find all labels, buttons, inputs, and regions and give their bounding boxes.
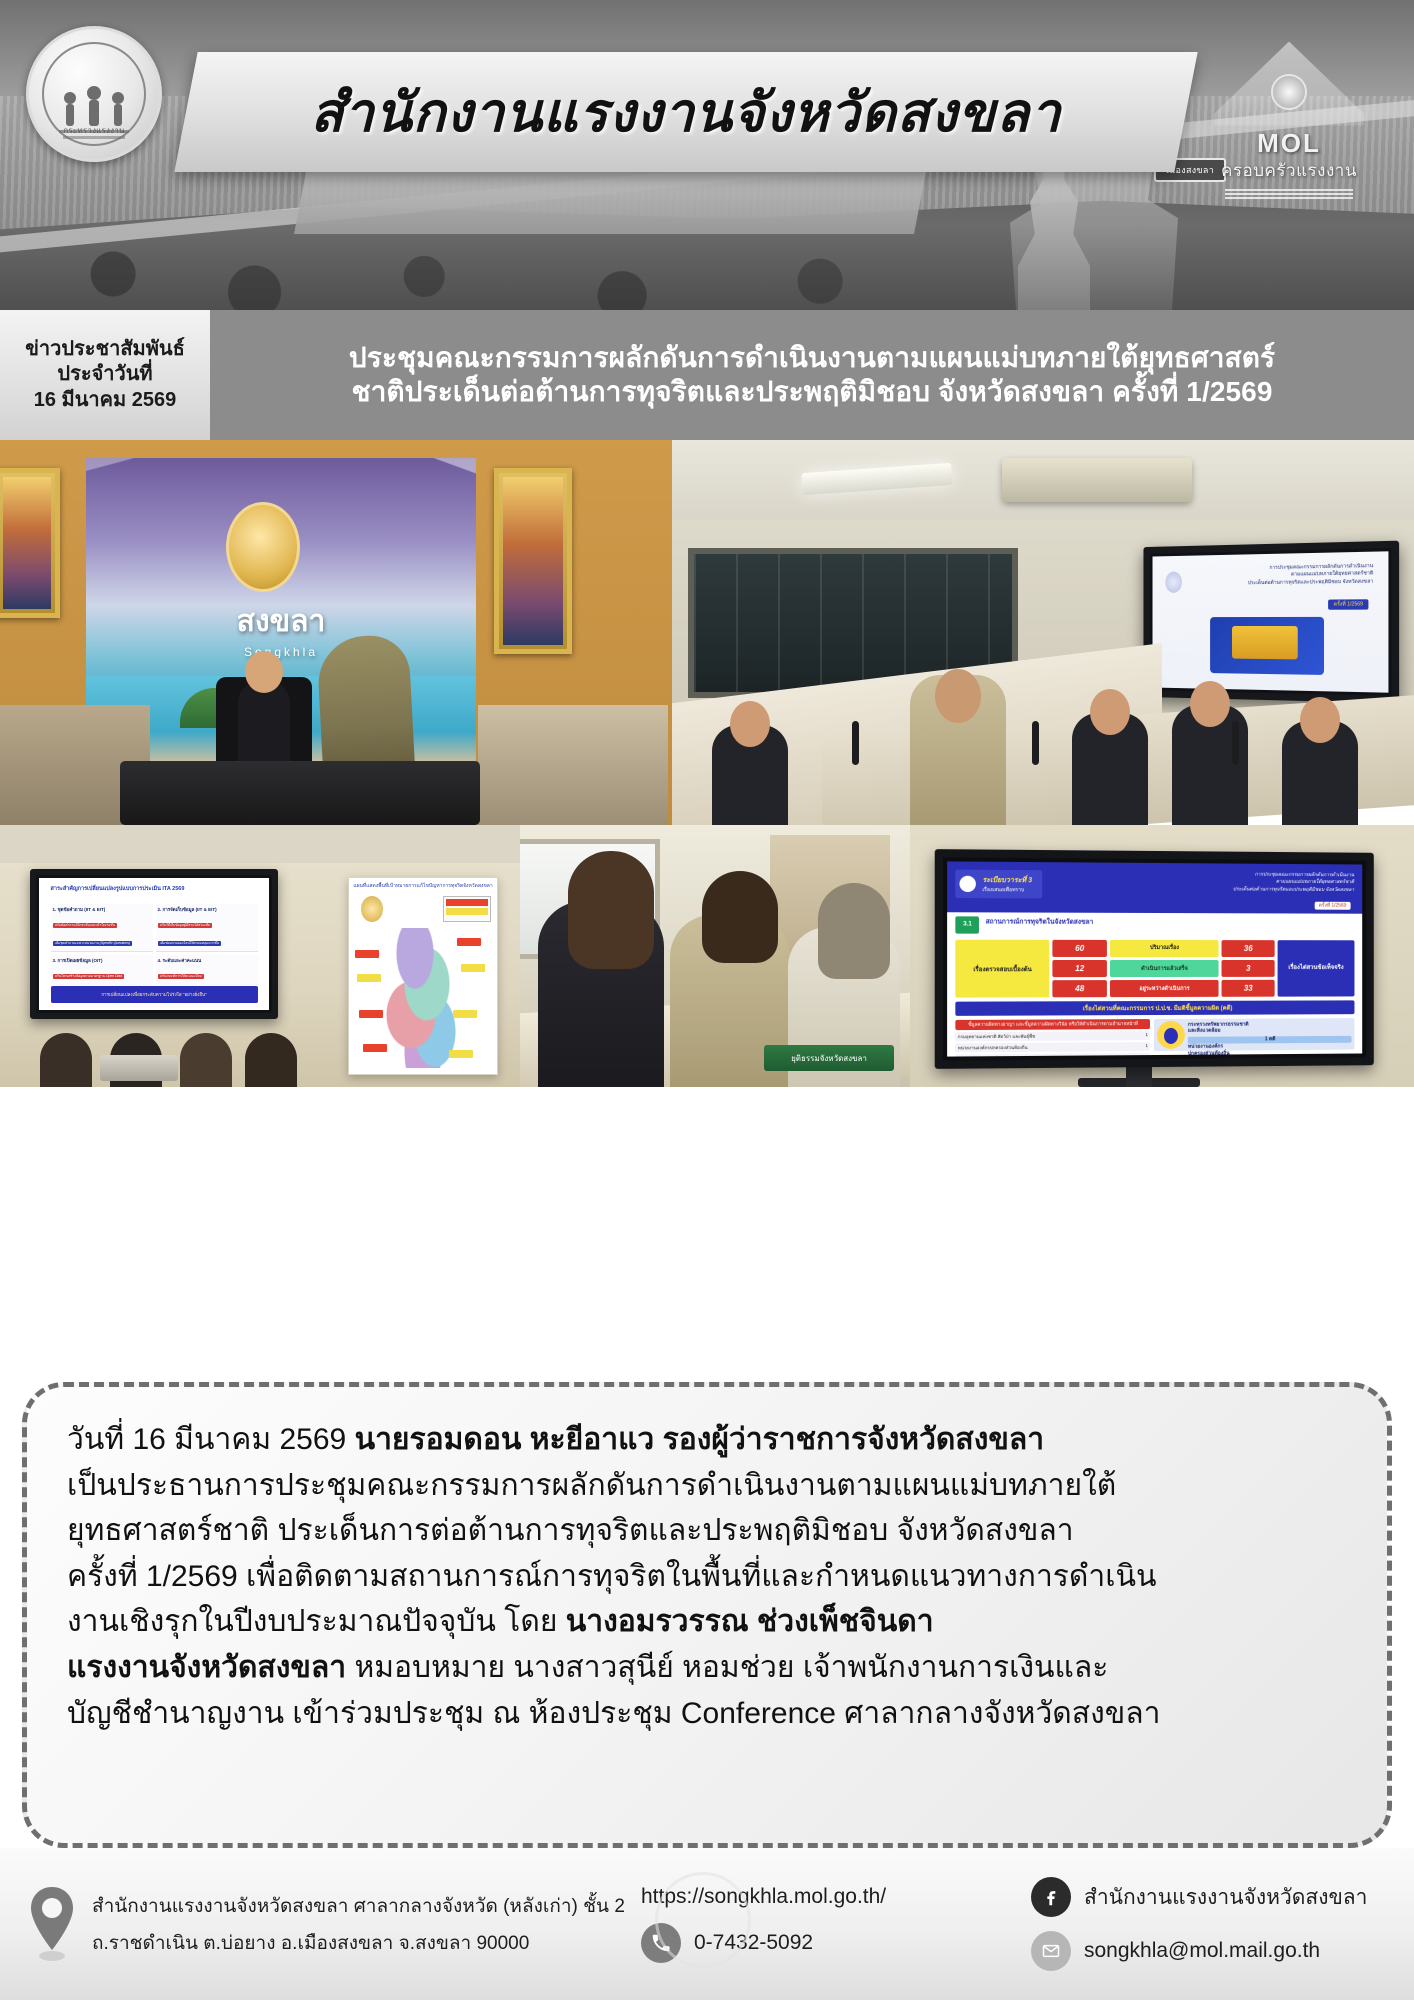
p5-right-values: 36 3 33 — [1222, 940, 1275, 997]
p3-slide: สาระสำคัญการเปลี่ยนแปลงรูปแบบการประเมิน … — [39, 878, 269, 1010]
p5-bottom-row-value: 1 — [1146, 1032, 1148, 1039]
p5-right-value-row-3: 33 — [1222, 980, 1275, 997]
p3-item-title: 4. ระดับและค่าคะแนน — [158, 957, 256, 964]
photo-statistics-slide: ระเบียบวาระที่ 3 เรื่องเสนอเพื่อทราบ การ… — [910, 825, 1414, 1087]
date-block: ข่าวประชาสัมพันธ์ ประจำวันที่ 16 มีนาคม … — [0, 310, 210, 440]
body-line-4: ครั้งที่ 1/2569 เพื่อติดตามสถานการณ์การท… — [67, 1554, 1353, 1600]
p5-bottom-row: หน่วยงานองค์กรปกครองส่วนท้องถิ่น 1 — [956, 1042, 1150, 1052]
p3-slide-title: สาระสำคัญการเปลี่ยนแปลงรูปแบบการประเมิน … — [51, 885, 185, 893]
p3-slide-item: 1. ชุดข้อคำถาม (IIT & EIT) ปรับข้อคำถามใ… — [51, 904, 153, 952]
photo-ita-screen-and-map: สาระสำคัญการเปลี่ยนแปลงรูปแบบการประเมิน … — [0, 825, 520, 1087]
headline-line-2: ชาติประเด็นต่อต้านการทุจริตและประพฤติมิช… — [351, 375, 1272, 409]
p5-bottom-row-label: องค์กรระดับจังหวัดอื่น — [958, 1055, 1001, 1057]
body-text: บัญชีชำนาญงาน เข้าร่วมประชุม ณ ห้องประชุ… — [67, 1697, 1160, 1730]
headline-line-1: ประชุมคณะกรรมการผลักดันการดำเนินงานตามแผ… — [349, 341, 1275, 375]
p1-table — [120, 761, 480, 825]
body-line-3: ยุทธศาสตร์ชาติ ประเด็นการต่อต้านการทุจริ… — [67, 1508, 1353, 1554]
p5-bottom-right-line-2: และสิ่งแวดล้อม — [1188, 1027, 1351, 1035]
p3-item-title: 1. ชุดข้อคำถาม (IIT & EIT) — [53, 906, 151, 913]
p1-backdrop-title: สงขลา Songkhla — [86, 598, 476, 659]
p3-item-chip-red: ปรับเกณฑ์การให้คะแนนใหม่ — [158, 974, 204, 979]
date-prefix-label: ประจำวันที่ — [57, 362, 152, 387]
p5-agenda-icon — [960, 876, 976, 892]
p2-microphone — [852, 721, 859, 765]
p1-portrait-frame-right — [494, 468, 572, 654]
footer-email-text[interactable]: songkhla@mol.mail.go.th — [1084, 1939, 1320, 1963]
p5-right-value-row-1: 36 — [1222, 940, 1275, 957]
p5-header-badge: ครั้งที่ 1/2569 — [1315, 902, 1350, 910]
p5-header-3: ประเด็นต่อต้านการทุจริตและประพฤติมิชอบ จ… — [1125, 885, 1354, 894]
p3-item-chip-blue: เพิ่มชุดคำถามเฉพาะหน่วยงาน (Specific Que… — [53, 941, 133, 946]
body-text: ยุทธศาสตร์ชาติ ประเด็นการต่อต้านการทุจริ… — [67, 1514, 1074, 1547]
p3-legend-swatch-red — [446, 899, 488, 906]
photo-grid: สงขลา Songkhla — [0, 440, 1414, 1087]
p5-bottom-red-note: ชี้มูลความผิดทางอาญา และชี้มูลความผิดทาง… — [956, 1019, 1150, 1030]
p3-item-chip-red: ปรับโครงสร้างข้อมูลตามมาตรฐาน Open Data — [53, 974, 125, 979]
p2-air-conditioner — [1002, 458, 1192, 502]
footer-social-block: สำนักงานแรงงานจังหวัดสงขลา songkhla@mol.… — [1031, 1877, 1388, 1971]
p3-item-title: 3. การเปิดเผยข้อมูล (OIT) — [53, 957, 151, 964]
p3-slide-grid: 1. ชุดข้อคำถาม (IIT & EIT) ปรับข้อคำถามใ… — [51, 904, 258, 981]
photo-chairman-head-table: สงขลา Songkhla — [0, 440, 672, 825]
p3-projector — [100, 1055, 178, 1081]
p5-middle-row-3: อยู่ระหว่างดำเนินการ — [1110, 980, 1219, 997]
body-line-5: งานเชิงรุกในปีงบประมาณปัจจุบัน โดย นางอม… — [67, 1599, 1353, 1645]
p3-audience-head — [245, 1033, 297, 1087]
p2-uniformed-officer — [910, 675, 1006, 825]
p2-presentation-screen: การประชุมคณะกรรมการผลักดันการดำเนินงาน ต… — [1143, 541, 1399, 704]
footer-address-lines: สำนักงานแรงงานจังหวัดสงขลา ศาลากลางจังหว… — [92, 1891, 625, 1958]
p5-agenda-subtitle: เรื่องเสนอเพื่อทราบ — [982, 886, 1032, 894]
footer-address-block: สำนักงานแรงงานจังหวัดสงขลา ศาลากลางจังหว… — [26, 1885, 641, 1963]
p2-slide-badge: ครั้งที่ 1/2569 — [1328, 600, 1368, 610]
p3-poster-seal-icon — [361, 896, 383, 922]
p5-middle-row-2: ดำเนินการแล้วเสร็จ — [1110, 960, 1219, 977]
ministry-seal-icon: กระทรวงแรงงาน — [26, 26, 162, 162]
p1-backdrop-title-text: สงขลา — [237, 605, 326, 638]
p5-bottom-right-line-4: ปกครองส่วนท้องถิ่น — [1188, 1049, 1351, 1056]
p3-ceiling — [0, 825, 520, 863]
p5-avatar-icon — [1157, 1021, 1185, 1049]
p5-agenda-badge: ระเบียบวาระที่ 3 เรื่องเสนอเพื่อทราบ — [956, 869, 1043, 899]
photo-meeting-room-right: การประชุมคณะกรรมการผลักดันการดำเนินงาน ต… — [672, 440, 1414, 825]
body-line-6: แรงงานจังหวัดสงขลา หมอบหมาย นางสาวสุนีย์… — [67, 1645, 1353, 1691]
p2-attendee-a — [712, 725, 788, 825]
photo-row-top: สงขลา Songkhla — [0, 440, 1414, 825]
p4-headscarf — [818, 883, 890, 979]
p3-item-chip-red: ปรับวิธีเก็บข้อมูลผู้มีส่วนได้ส่วนเสีย — [158, 923, 212, 928]
mol-arch-icon — [1214, 42, 1364, 126]
date-value: 16 มีนาคม 2569 — [34, 388, 177, 413]
footer-watermark-seal — [655, 1872, 751, 1968]
p3-poster-legend — [443, 896, 491, 922]
p1-backdrop-subtitle-text: Songkhla — [86, 645, 476, 659]
body-text: เป็นประธานการประชุมคณะกรรมการผลักดันการด… — [67, 1469, 1116, 1502]
p3-map-tag — [355, 950, 379, 958]
p2-slide: การประชุมคณะกรรมการผลักดันการดำเนินงาน ต… — [1153, 551, 1389, 692]
footer-address-line-2: ถ.ราชดำเนิน ต.บ่อยาง อ.เมืองสงขลา จ.สงขล… — [92, 1928, 625, 1958]
p5-section-number: 3.1 — [956, 916, 980, 934]
p5-bottom-row: องค์กรระดับจังหวัดอื่น — [956, 1053, 1150, 1057]
organization-title: สำนักงานแรงงานจังหวัดสงขลา — [186, 52, 1186, 172]
p3-presentation-screen: สาระสำคัญการเปลี่ยนแปลงรูปแบบการประเมิน … — [30, 869, 278, 1019]
body-emphasis: นางอมรวรรณ ช่วงเพ็ชจินดา — [566, 1605, 934, 1638]
location-pin-icon — [26, 1885, 78, 1963]
p3-legend-swatch-yellow — [446, 908, 488, 915]
body-line-7: บัญชีชำนาญงาน เข้าร่วมประชุม ณ ห้องประชุ… — [67, 1691, 1353, 1737]
body-emphasis: แรงงานจังหวัดสงขลา — [67, 1651, 346, 1684]
body-text: งานเชิงรุกในปีงบประมาณปัจจุบัน โดย — [67, 1605, 566, 1638]
p3-slide-item: 2. การจัดเก็บข้อมูล (IIT & EIT) ปรับวิธี… — [156, 904, 258, 952]
p1-attendees-right — [478, 705, 668, 825]
facebook-icon[interactable] — [1031, 1877, 1071, 1917]
p5-middle-row-1: ปริมาณเรื่อง — [1110, 940, 1219, 957]
p5-section-title: สถานการณ์การทุจริตในจังหวัดสงขลา — [986, 916, 1094, 926]
p5-right-label: เรื่องไต่สวนข้อเท็จจริง — [1278, 940, 1354, 997]
photo-row-bottom: สาระสำคัญการเปลี่ยนแปลงรูปแบบการประเมิน … — [0, 825, 1414, 1087]
headline-block: ประชุมคณะกรรมการผลักดันการดำเนินงานตามแผ… — [210, 310, 1414, 440]
p3-map-tag — [457, 938, 481, 946]
press-release-label: ข่าวประชาสัมพันธ์ — [25, 337, 185, 362]
p3-map-tag — [461, 964, 485, 972]
body-text-card: วันที่ 16 มีนาคม 2569 นายรอมดอน หะยีอาแว… — [22, 1382, 1392, 1848]
p5-bottom-row-label: กรมอุทยานแห่งชาติ สัตว์ป่า และพันธุ์พืช — [958, 1032, 1035, 1040]
p5-bottom-section: ชี้มูลความผิดทางอาญา และชี้มูลความผิดทาง… — [956, 1018, 1354, 1053]
p5-section-bar: เรื่องไต่สวนที่คณะกรรมการ ป.ป.ช. มีมติชี… — [956, 1001, 1354, 1016]
body-text: ครั้งที่ 1/2569 เพื่อติดตามสถานการณ์การท… — [67, 1560, 1157, 1593]
body-line-1: วันที่ 16 มีนาคม 2569 นายรอมดอน หะยีอาแว… — [67, 1417, 1353, 1463]
footer-facebook-item[interactable]: สำนักงานแรงงานจังหวัดสงขลา — [1031, 1877, 1388, 1917]
mol-name-text: MOL — [1257, 128, 1321, 159]
p5-bottom-left: ชี้มูลความผิดทางอาญา และชี้มูลความผิดทาง… — [956, 1019, 1150, 1053]
p5-presentation-screen: ระเบียบวาระที่ 3 เรื่องเสนอเพื่อทราบ การ… — [935, 849, 1374, 1069]
p3-poster-title: แผนที่แสดงพื้นที่เป้าหมายการแก้ไขปัญหากา… — [349, 882, 497, 890]
seal-inner-ring: กระทรวงแรงงาน — [42, 42, 146, 146]
p4-hair — [568, 851, 654, 969]
p1-portrait-frame-left — [0, 468, 60, 618]
body-text: หมอบหมาย นางสาวสุนีย์ หอมช่วย เจ้าพนักงา… — [346, 1651, 1108, 1684]
p5-agenda-title: ระเบียบวาระที่ 3 — [982, 874, 1032, 885]
p3-audience-head — [180, 1033, 232, 1087]
photo-officials-taking-notes: ยุติธรรมจังหวัดสงขลา — [520, 825, 910, 1087]
body-text: วันที่ 16 มีนาคม 2569 — [67, 1423, 355, 1456]
p5-right-value-row-2: 3 — [1222, 960, 1275, 977]
p5-left-value-row-2: 12 — [1052, 960, 1107, 977]
p5-stats-table: เรื่องตรวจสอบเบื้องต้น 60 12 48 ปริมาณเร… — [956, 939, 1354, 997]
p5-bottom-row: กรมอุทยานแห่งชาติ สัตว์ป่า และพันธุ์พืช … — [956, 1031, 1150, 1041]
envelope-icon[interactable] — [1031, 1931, 1071, 1971]
p5-bottom-right: กระทรวงทรัพยากรธรรมชาติ และสิ่งแวดล้อม 1… — [1154, 1018, 1354, 1052]
p2-attendee-b — [1072, 713, 1148, 825]
mol-logo: MOL ครอบครัวแรงงาน — [1194, 40, 1384, 200]
p3-item-title: 2. การจัดเก็บข้อมูล (IIT & EIT) — [158, 906, 256, 913]
p1-provincial-emblem-icon — [226, 502, 300, 592]
p5-left-values: 60 12 48 — [1052, 940, 1107, 998]
p2-slide-header: การประชุมคณะกรรมการผลักดันการดำเนินงาน ต… — [1166, 563, 1374, 589]
p5-slide-header-text: การประชุมคณะกรรมการผลักดันการดำเนินงาน ต… — [1125, 870, 1354, 894]
p1-chairperson — [238, 681, 290, 767]
p5-left-value-row-1: 60 — [1052, 940, 1107, 957]
p3-item-chip-blue: เพิ่มช่องทางออนไลน์ให้ครอบคลุมมากขึ้น — [158, 941, 222, 946]
p2-slide-header-3: ประเด็นต่อต้านการทุจริตและประพฤติมิชอบ จ… — [1166, 578, 1374, 588]
p2-microphone — [1232, 721, 1239, 765]
footer-facebook-text[interactable]: สำนักงานแรงงานจังหวัดสงขลา — [1084, 1881, 1367, 1914]
p5-left-value-row-3: 48 — [1052, 980, 1107, 997]
p2-attendee-d — [1282, 721, 1358, 825]
p3-item-chip-red: ปรับข้อคำถามให้กระชับและเข้าใจง่ายขึ้น — [53, 923, 117, 928]
seal-caption: กระทรวงแรงงาน — [44, 124, 144, 137]
p4-nameplate: ยุติธรรมจังหวัดสงขลา — [764, 1045, 894, 1071]
page-header: เมืองสงขลา กระทรวงแรงงาน สำนักงานแรงงานจ… — [0, 0, 1414, 310]
p3-audience-head — [40, 1033, 92, 1087]
header-plaque-tail — [294, 172, 926, 234]
footer-address-line-1: สำนักงานแรงงานจังหวัดสงขลา ศาลากลางจังหว… — [92, 1891, 625, 1921]
p5-bottom-row-label: หน่วยงานองค์กรปกครองส่วนท้องถิ่น — [958, 1044, 1028, 1052]
p5-slide: ระเบียบวาระที่ 3 เรื่องเสนอเพื่อทราบ การ… — [947, 861, 1362, 1056]
p4-hair — [702, 871, 778, 963]
p5-bottom-row-value: 1 — [1146, 1043, 1148, 1050]
page-footer: สำนักงานแรงงานจังหวัดสงขลา ศาลากลางจังหว… — [0, 1848, 1414, 2000]
mol-bars-decor — [1225, 189, 1353, 199]
body-line-2: เป็นประธานการประชุมคณะกรรมการผลักดันการด… — [67, 1463, 1353, 1509]
p4-attendee-1 — [538, 901, 664, 1087]
p5-middle-labels: ปริมาณเรื่อง ดำเนินการแล้วเสร็จ อยู่ระหว… — [1110, 940, 1219, 998]
p5-left-label: เรื่องตรวจสอบเบื้องต้น — [956, 939, 1050, 997]
footer-email-item[interactable]: songkhla@mol.mail.go.th — [1031, 1931, 1388, 1971]
p2-slide-artwork — [1210, 616, 1323, 674]
p2-microphone — [1032, 721, 1039, 765]
title-band: ข่าวประชาสัมพันธ์ ประจำวันที่ 16 มีนาคม … — [0, 310, 1414, 440]
mol-medal-icon — [1271, 74, 1307, 110]
body-emphasis: นายรอมดอน หะยีอาแว รองผู้ว่าราชการจังหวั… — [355, 1423, 1045, 1456]
mol-subtitle-text: ครอบครัวแรงงาน — [1221, 157, 1357, 184]
p3-map-tag — [357, 974, 381, 982]
